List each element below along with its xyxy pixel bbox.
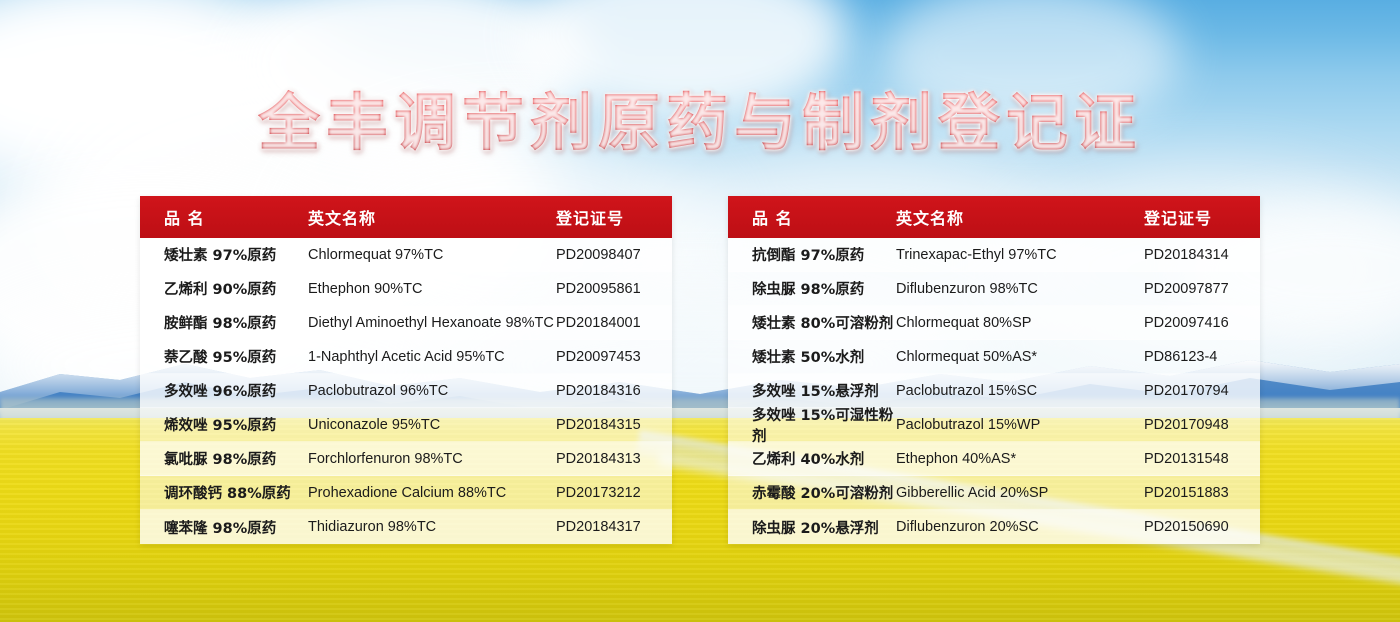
product-name-cell: 除虫脲 98%原药 <box>728 278 896 299</box>
english-name-cell: Paclobutrazol 96%TC <box>308 383 556 399</box>
english-name-cell: Diethyl Aminoethyl Hexanoate 98%TC <box>308 315 556 331</box>
product-name-cell: 多效唑 15%悬浮剂 <box>728 380 896 401</box>
registration-number-cell: PD20151883 <box>1144 485 1260 501</box>
table-body: 矮壮素 97%原药Chlormequat 97%TCPD20098407乙烯利 … <box>140 238 672 544</box>
table-row: 除虫脲 98%原药Diflubenzuron 98%TCPD20097877 <box>728 272 1260 306</box>
product-name-cell: 噻苯隆 98%原药 <box>140 517 308 538</box>
registration-number-cell: PD86123-4 <box>1144 349 1260 365</box>
table-row: 抗倒酯 97%原药Trinexapac-Ethyl 97%TCPD2018431… <box>728 238 1260 272</box>
table-row: 多效唑 96%原药Paclobutrazol 96%TCPD20184316 <box>140 374 672 408</box>
english-name-cell: 1-Naphthyl Acetic Acid 95%TC <box>308 349 556 365</box>
product-name-cell: 除虫脲 20%悬浮剂 <box>728 517 896 538</box>
english-name-cell: Gibberellic Acid 20%SP <box>896 485 1144 501</box>
english-name-cell: Chlormequat 80%SP <box>896 315 1144 331</box>
registration-number-cell: PD20131548 <box>1144 451 1260 467</box>
product-name-cell: 多效唑 96%原药 <box>140 380 308 401</box>
english-name-cell: Chlormequat 97%TC <box>308 247 556 263</box>
product-name-cell: 调环酸钙 88%原药 <box>140 482 308 503</box>
table-row: 矮壮素 80%可溶粉剂Chlormequat 80%SPPD20097416 <box>728 306 1260 340</box>
registration-number-cell: PD20184316 <box>556 383 672 399</box>
column-header-2: 英文名称 <box>308 205 556 229</box>
registration-number-cell: PD20184001 <box>556 315 672 331</box>
product-name-cell: 胺鲜酯 98%原药 <box>140 312 308 333</box>
poster-stage: 全丰调节剂原药与制剂登记证 品 名英文名称登记证号矮壮素 97%原药Chlorm… <box>0 0 1400 622</box>
column-header-2: 英文名称 <box>896 205 1144 229</box>
english-name-cell: Uniconazole 95%TC <box>308 417 556 433</box>
registration-number-cell: PD20098407 <box>556 247 672 263</box>
english-name-cell: Prohexadione Calcium 88%TC <box>308 485 556 501</box>
page-title: 全丰调节剂原药与制剂登记证 <box>258 72 1142 162</box>
registration-table-left: 品 名英文名称登记证号矮壮素 97%原药Chlormequat 97%TCPD2… <box>140 196 672 544</box>
table-row: 矮壮素 97%原药Chlormequat 97%TCPD20098407 <box>140 238 672 272</box>
product-name-cell: 矮壮素 97%原药 <box>140 244 308 265</box>
english-name-cell: Ethephon 90%TC <box>308 281 556 297</box>
registration-number-cell: PD20097453 <box>556 349 672 365</box>
registration-number-cell: PD20097877 <box>1144 281 1260 297</box>
table-row: 除虫脲 20%悬浮剂Diflubenzuron 20%SCPD20150690 <box>728 510 1260 544</box>
registration-number-cell: PD20184317 <box>556 519 672 535</box>
registration-number-cell: PD20170794 <box>1144 383 1260 399</box>
product-name-cell: 萘乙酸 95%原药 <box>140 346 308 367</box>
product-name-cell: 乙烯利 40%水剂 <box>728 448 896 469</box>
table-row: 噻苯隆 98%原药Thidiazuron 98%TCPD20184317 <box>140 510 672 544</box>
registration-number-cell: PD20097416 <box>1144 315 1260 331</box>
english-name-cell: Thidiazuron 98%TC <box>308 519 556 535</box>
table-row: 赤霉酸 20%可溶粉剂Gibberellic Acid 20%SPPD20151… <box>728 476 1260 510</box>
product-name-cell: 乙烯利 90%原药 <box>140 278 308 299</box>
registration-number-cell: PD20184313 <box>556 451 672 467</box>
english-name-cell: Forchlorfenuron 98%TC <box>308 451 556 467</box>
product-name-cell: 多效唑 15%可湿性粉剂 <box>728 404 896 446</box>
english-name-cell: Trinexapac-Ethyl 97%TC <box>896 247 1144 263</box>
registration-number-cell: PD20184315 <box>556 417 672 433</box>
column-header-1: 品 名 <box>140 205 308 229</box>
column-header-3: 登记证号 <box>556 205 672 229</box>
registration-number-cell: PD20170948 <box>1144 417 1260 433</box>
product-name-cell: 抗倒酯 97%原药 <box>728 244 896 265</box>
english-name-cell: Ethephon 40%AS* <box>896 451 1144 467</box>
product-name-cell: 矮壮素 80%可溶粉剂 <box>728 312 896 333</box>
registration-number-cell: PD20173212 <box>556 485 672 501</box>
table-header-row: 品 名英文名称登记证号 <box>728 196 1260 238</box>
product-name-cell: 矮壮素 50%水剂 <box>728 346 896 367</box>
column-header-1: 品 名 <box>728 205 896 229</box>
table-header-row: 品 名英文名称登记证号 <box>140 196 672 238</box>
table-row: 调环酸钙 88%原药Prohexadione Calcium 88%TCPD20… <box>140 476 672 510</box>
table-row: 萘乙酸 95%原药1-Naphthyl Acetic Acid 95%TCPD2… <box>140 340 672 374</box>
page-title-wrap: 全丰调节剂原药与制剂登记证 <box>0 72 1400 162</box>
table-body: 抗倒酯 97%原药Trinexapac-Ethyl 97%TCPD2018431… <box>728 238 1260 544</box>
english-name-cell: Diflubenzuron 98%TC <box>896 281 1144 297</box>
column-header-3: 登记证号 <box>1144 205 1260 229</box>
english-name-cell: Diflubenzuron 20%SC <box>896 519 1144 535</box>
english-name-cell: Chlormequat 50%AS* <box>896 349 1144 365</box>
english-name-cell: Paclobutrazol 15%SC <box>896 383 1144 399</box>
table-row: 烯效唑 95%原药Uniconazole 95%TCPD20184315 <box>140 408 672 442</box>
product-name-cell: 氯吡脲 98%原药 <box>140 448 308 469</box>
product-name-cell: 赤霉酸 20%可溶粉剂 <box>728 482 896 503</box>
table-row: 多效唑 15%可湿性粉剂Paclobutrazol 15%WPPD2017094… <box>728 408 1260 442</box>
registration-number-cell: PD20095861 <box>556 281 672 297</box>
table-row: 胺鲜酯 98%原药Diethyl Aminoethyl Hexanoate 98… <box>140 306 672 340</box>
table-row: 乙烯利 40%水剂Ethephon 40%AS*PD20131548 <box>728 442 1260 476</box>
product-name-cell: 烯效唑 95%原药 <box>140 414 308 435</box>
registration-table-right: 品 名英文名称登记证号抗倒酯 97%原药Trinexapac-Ethyl 97%… <box>728 196 1260 544</box>
registration-number-cell: PD20184314 <box>1144 247 1260 263</box>
table-row: 矮壮素 50%水剂Chlormequat 50%AS*PD86123-4 <box>728 340 1260 374</box>
english-name-cell: Paclobutrazol 15%WP <box>896 417 1144 433</box>
table-row: 氯吡脲 98%原药Forchlorfenuron 98%TCPD20184313 <box>140 442 672 476</box>
table-row: 乙烯利 90%原药Ethephon 90%TCPD20095861 <box>140 272 672 306</box>
registration-number-cell: PD20150690 <box>1144 519 1260 535</box>
